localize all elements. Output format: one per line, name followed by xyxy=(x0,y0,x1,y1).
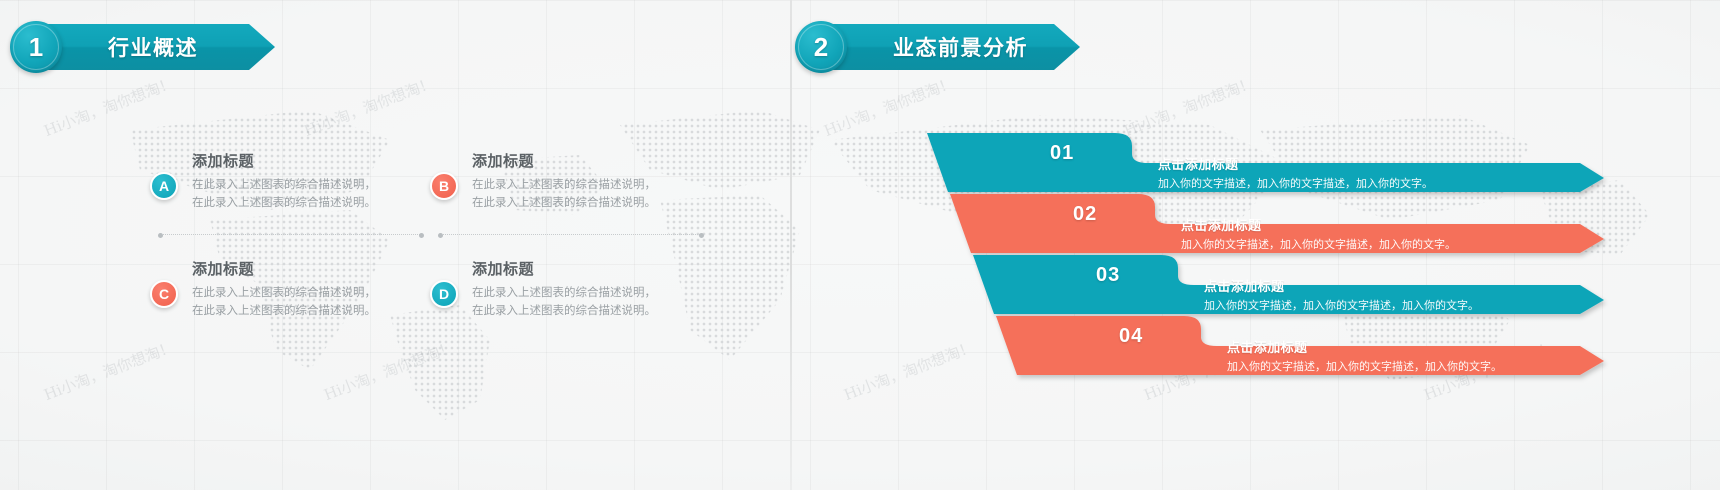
ribbon-number: 04 xyxy=(1119,325,1143,348)
ribbon-text: 点击添加标题 加入你的文字描述，加入你的文字描述，加入你的文字。 xyxy=(1204,276,1479,313)
item-desc-line1: 在此录入上述图表的综合描述说明， xyxy=(472,284,690,302)
ribbon-number: 01 xyxy=(1050,142,1074,165)
section-banner-arrow-1: 行业概述 xyxy=(36,24,275,70)
ribbon-desc: 加入你的文字描述，加入你的文字描述，加入你的文字。 xyxy=(1227,358,1502,374)
item-title: 添加标题 xyxy=(472,258,690,279)
ribbon-title: 点击添加标题 xyxy=(1158,154,1433,173)
item-text-d: 添加标题 在此录入上述图表的综合描述说明， 在此录入上述图表的综合描述说明。 xyxy=(472,258,690,320)
section-title-2: 业态前景分析 xyxy=(893,32,1028,62)
item-text-c: 添加标题 在此录入上述图表的综合描述说明， 在此录入上述图表的综合描述说明。 xyxy=(192,258,410,320)
ribbon-title: 点击添加标题 xyxy=(1227,337,1502,356)
item-badge-d: D xyxy=(430,280,458,308)
ribbon-item-04[interactable]: 04 点击添加标题 加入你的文字描述，加入你的文字描述，加入你的文字。 xyxy=(900,313,1620,375)
list-item[interactable]: A 添加标题 在此录入上述图表的综合描述说明， 在此录入上述图表的综合描述说明。 xyxy=(150,150,410,212)
ribbon-desc: 加入你的文字描述，加入你的文字描述，加入你的文字。 xyxy=(1181,236,1456,252)
item-badge-a: A xyxy=(150,172,178,200)
item-badge-c: C xyxy=(150,280,178,308)
ribbon-text: 点击添加标题 加入你的文字描述，加入你的文字描述，加入你的文字。 xyxy=(1158,154,1433,191)
divider-dotted-right xyxy=(440,234,702,235)
left-panel-item-grid: A 添加标题 在此录入上述图表的综合描述说明， 在此录入上述图表的综合描述说明。… xyxy=(150,150,710,360)
item-text-a: 添加标题 在此录入上述图表的综合描述说明， 在此录入上述图表的综合描述说明。 xyxy=(192,150,410,212)
divider-dotted-left xyxy=(160,234,422,235)
section-header-1[interactable]: 行业概述 1 xyxy=(10,24,275,70)
ribbon-title: 点击添加标题 xyxy=(1181,215,1456,234)
section-banner-arrow-2: 业态前景分析 xyxy=(821,24,1080,70)
item-title: 添加标题 xyxy=(192,258,410,279)
list-item[interactable]: C 添加标题 在此录入上述图表的综合描述说明， 在此录入上述图表的综合描述说明。 xyxy=(150,258,410,320)
ribbon-text: 点击添加标题 加入你的文字描述，加入你的文字描述，加入你的文字。 xyxy=(1227,337,1502,374)
item-desc-line1: 在此录入上述图表的综合描述说明， xyxy=(472,176,690,194)
panel-divider xyxy=(790,0,792,490)
ribbon-item-02[interactable]: 02 点击添加标题 加入你的文字描述，加入你的文字描述，加入你的文字。 xyxy=(900,191,1620,253)
ribbon-item-03[interactable]: 03 点击添加标题 加入你的文字描述，加入你的文字描述，加入你的文字。 xyxy=(900,252,1620,314)
ribbon-title: 点击添加标题 xyxy=(1204,276,1479,295)
slide-canvas: Hi小淘，淘你想淘！ Hi小淘，淘你想淘！ Hi小淘，淘你想淘！ Hi小淘，淘你… xyxy=(0,0,1720,490)
ribbon-desc: 加入你的文字描述，加入你的文字描述，加入你的文字。 xyxy=(1158,175,1433,191)
section-header-2[interactable]: 业态前景分析 2 xyxy=(795,24,1080,70)
section-number-badge-2: 2 xyxy=(795,21,847,73)
list-item[interactable]: B 添加标题 在此录入上述图表的综合描述说明， 在此录入上述图表的综合描述说明。 xyxy=(430,150,690,212)
ribbon-item-01[interactable]: 01 点击添加标题 加入你的文字描述，加入你的文字描述，加入你的文字。 xyxy=(900,130,1620,192)
section-number-badge-1: 1 xyxy=(10,21,62,73)
ribbon-desc: 加入你的文字描述，加入你的文字描述，加入你的文字。 xyxy=(1204,297,1479,313)
ribbon-number: 02 xyxy=(1073,203,1097,226)
item-title: 添加标题 xyxy=(472,150,690,171)
item-text-b: 添加标题 在此录入上述图表的综合描述说明， 在此录入上述图表的综合描述说明。 xyxy=(472,150,690,212)
item-desc-line2: 在此录入上述图表的综合描述说明。 xyxy=(472,302,690,320)
item-desc-line1: 在此录入上述图表的综合描述说明， xyxy=(192,284,410,302)
item-desc-line2: 在此录入上述图表的综合描述说明。 xyxy=(472,194,690,212)
section-title-1: 行业概述 xyxy=(108,32,198,62)
item-desc-line2: 在此录入上述图表的综合描述说明。 xyxy=(192,302,410,320)
ribbon-number: 03 xyxy=(1096,264,1120,287)
right-panel-ribbon-list: 01 点击添加标题 加入你的文字描述，加入你的文字描述，加入你的文字。 02 点… xyxy=(900,130,1620,380)
list-item[interactable]: D 添加标题 在此录入上述图表的综合描述说明， 在此录入上述图表的综合描述说明。 xyxy=(430,258,690,320)
ribbon-text: 点击添加标题 加入你的文字描述，加入你的文字描述，加入你的文字。 xyxy=(1181,215,1456,252)
item-desc-line2: 在此录入上述图表的综合描述说明。 xyxy=(192,194,410,212)
item-title: 添加标题 xyxy=(192,150,410,171)
item-badge-b: B xyxy=(430,172,458,200)
item-desc-line1: 在此录入上述图表的综合描述说明， xyxy=(192,176,410,194)
